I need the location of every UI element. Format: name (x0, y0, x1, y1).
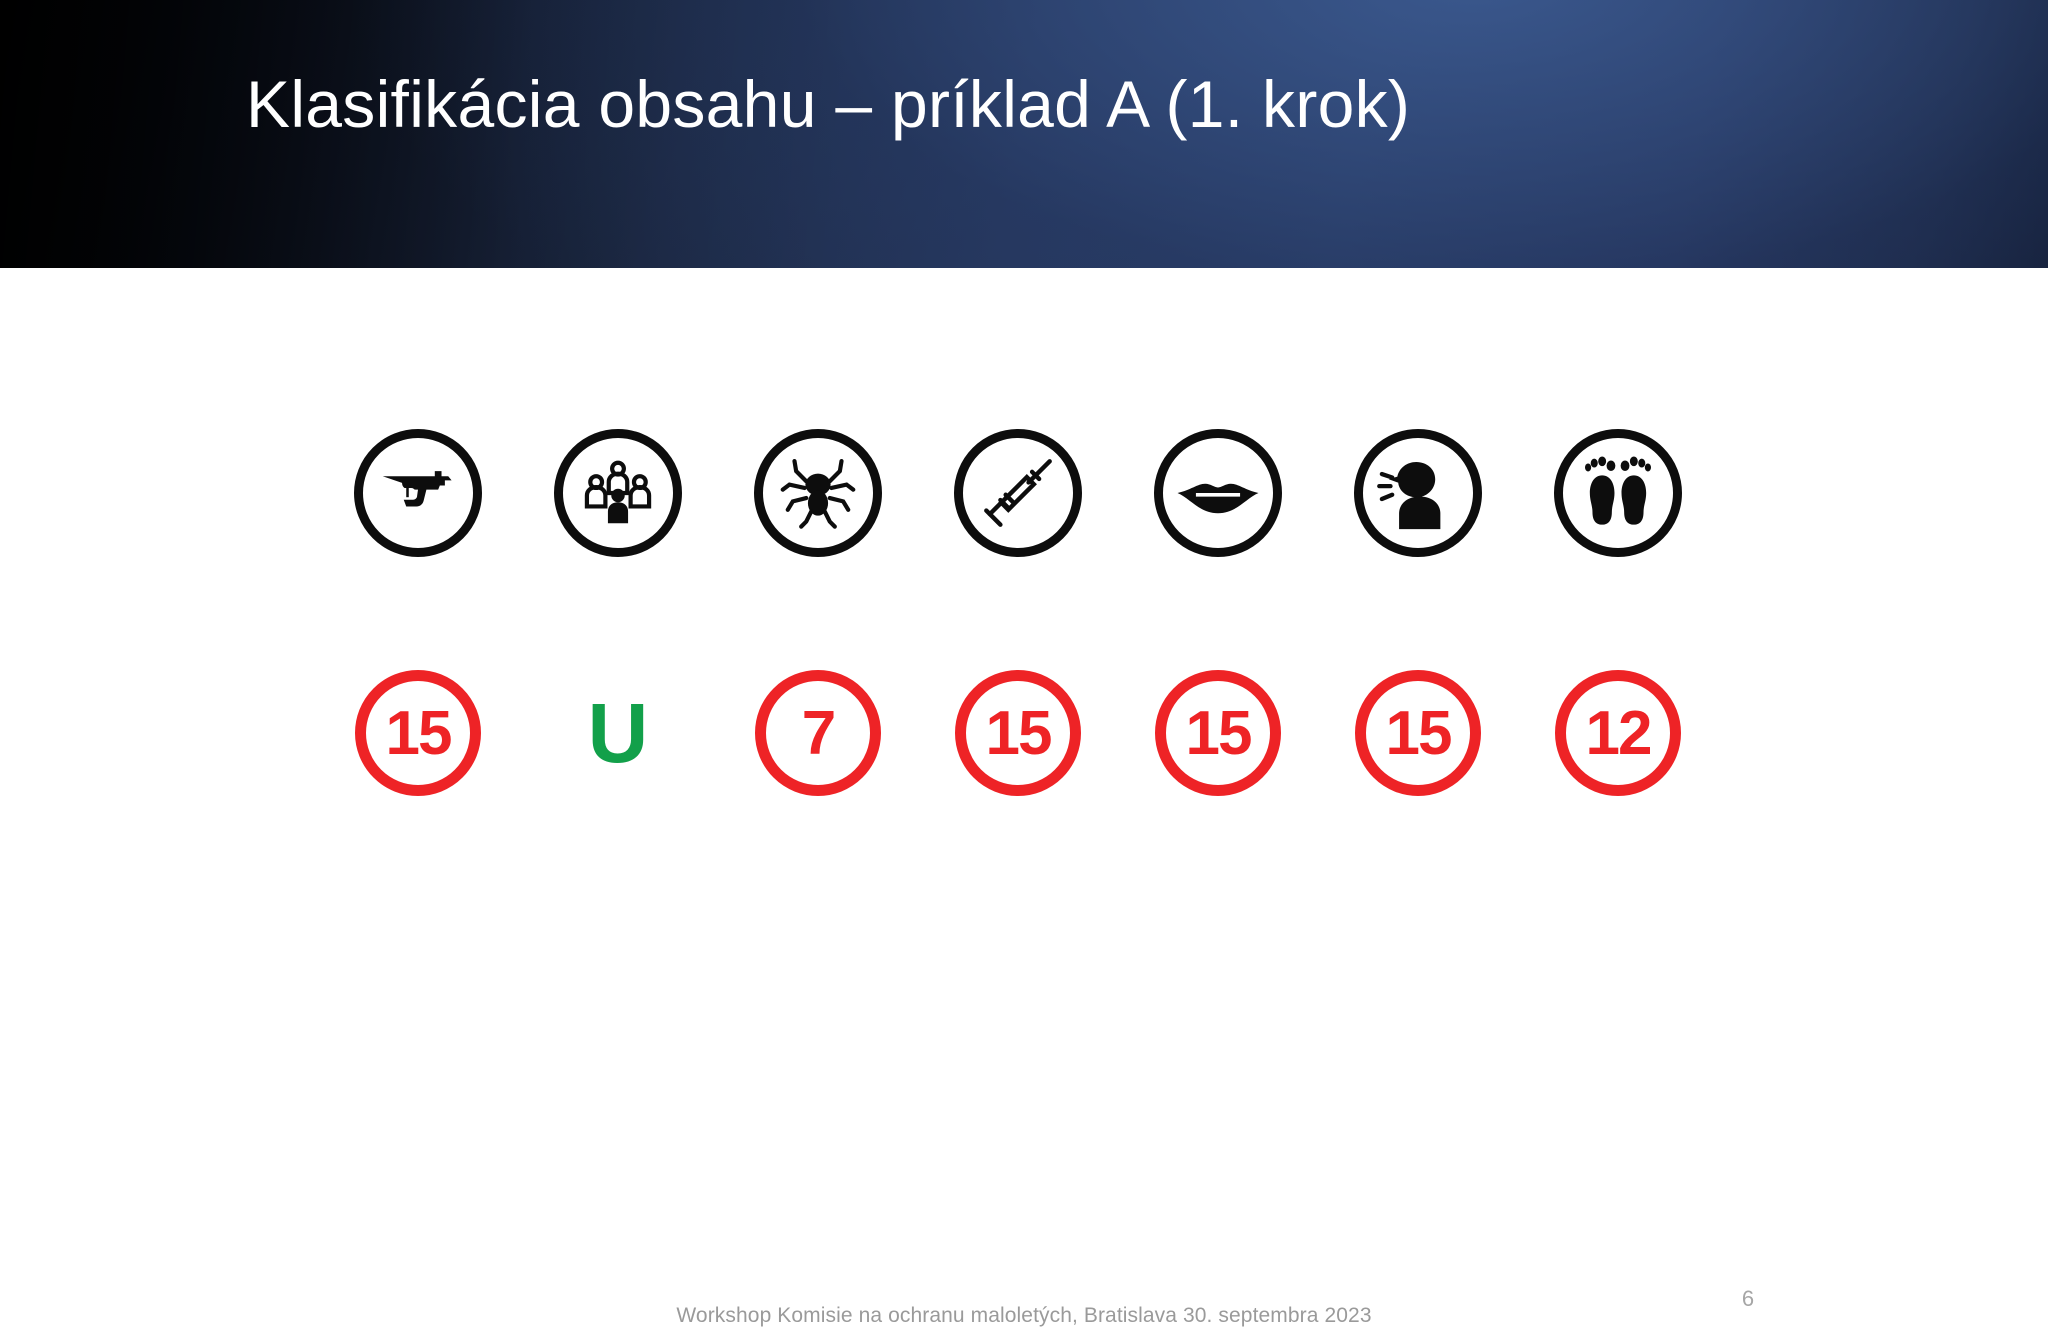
age-rating-badge: 12 (1555, 670, 1681, 796)
page-title: Klasifikácia obsahu – príklad A (1. krok… (246, 68, 1806, 142)
age-rating-badge: 15 (1355, 670, 1481, 796)
rating-cell-language: 15 (1318, 670, 1518, 796)
spider-icon (754, 429, 882, 557)
classification-matrix: 15 U 7 15 15 15 12 (318, 408, 1778, 818)
presentation-slide: Klasifikácia obsahu – príklad A (1. krok… (0, 0, 2048, 1152)
descriptor-icon-row (318, 408, 1778, 578)
speaking-head-icon (1354, 429, 1482, 557)
age-rating-row: 15 U 7 15 15 15 12 (318, 648, 1778, 818)
age-rating-badge: U (588, 670, 649, 796)
slide-body: 15 U 7 15 15 15 12 (0, 268, 2048, 1152)
descriptor-cell-fear (718, 429, 918, 557)
rating-cell-violence: 15 (318, 670, 518, 796)
rating-cell-fear: 7 (718, 670, 918, 796)
rating-cell-sex: 15 (1118, 670, 1318, 796)
bare-feet-icon (1554, 429, 1682, 557)
rating-cell-drugs: 15 (918, 670, 1118, 796)
title-banner: Klasifikácia obsahu – príklad A (1. krok… (0, 0, 2048, 268)
group-of-people-icon (554, 429, 682, 557)
age-rating-badge: 15 (355, 670, 481, 796)
descriptor-cell-discrimination (518, 429, 718, 557)
descriptor-cell-sex (1118, 429, 1318, 557)
handgun-icon (354, 429, 482, 557)
page-number: 6 (1718, 1286, 1778, 1312)
descriptor-cell-language (1318, 429, 1518, 557)
descriptor-cell-violence (318, 429, 518, 557)
descriptor-cell-nudity (1518, 429, 1718, 557)
rating-cell-discrimination: U (518, 670, 718, 796)
age-rating-badge: 7 (755, 670, 881, 796)
lips-icon (1154, 429, 1282, 557)
age-rating-badge: 15 (1155, 670, 1281, 796)
rating-cell-nudity: 12 (1518, 670, 1718, 796)
syringe-icon (954, 429, 1082, 557)
descriptor-cell-drugs (918, 429, 1118, 557)
age-rating-badge: 15 (955, 670, 1081, 796)
